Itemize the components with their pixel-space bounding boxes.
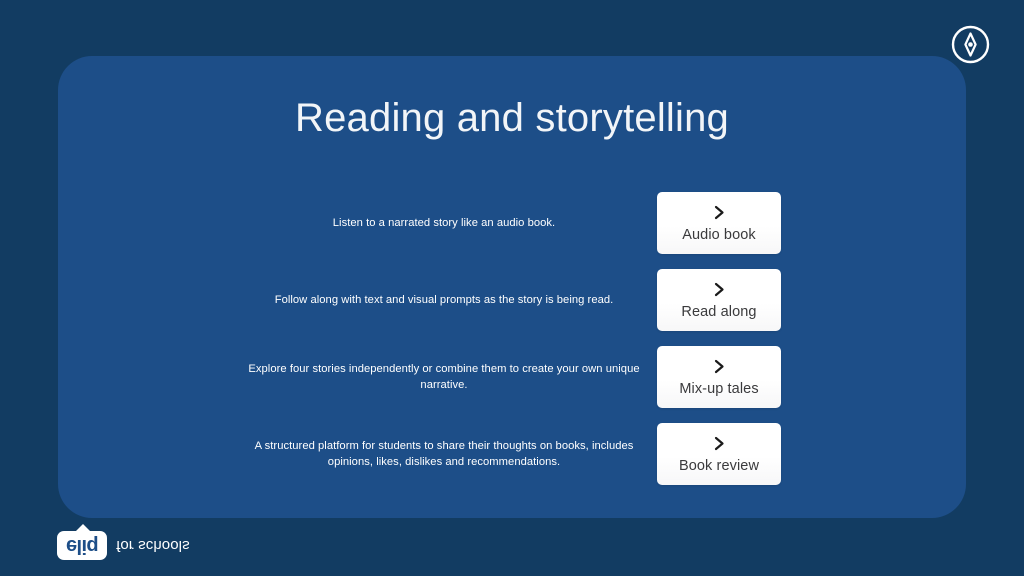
activity-button-read-along[interactable]: Read along [657, 269, 781, 331]
list-item: Explore four stories independently or co… [58, 346, 966, 408]
chevron-right-icon [712, 358, 727, 375]
activity-description: A structured platform for students to sh… [238, 438, 650, 470]
activity-button-label: Mix-up tales [679, 382, 758, 397]
slide-card: Reading and storytelling Listen to a nar… [58, 56, 966, 518]
page-title: Reading and storytelling [58, 96, 966, 140]
brand-logo: eliq for schools [57, 526, 190, 566]
activity-description: Follow along with text and visual prompt… [238, 292, 650, 308]
activity-button-book-review[interactable]: Book review [657, 423, 781, 485]
chevron-right-icon [712, 204, 727, 221]
list-item: A structured platform for students to sh… [58, 423, 966, 485]
activity-button-label: Book review [679, 459, 759, 474]
compass-icon [950, 24, 991, 65]
activity-button-label: Read along [681, 305, 756, 320]
activity-button-audio-book[interactable]: Audio book [657, 192, 781, 254]
list-item: Listen to a narrated story like an audio… [58, 192, 966, 254]
activity-list: Listen to a narrated story like an audio… [58, 192, 966, 500]
chevron-right-icon [712, 435, 727, 452]
list-item: Follow along with text and visual prompt… [58, 269, 966, 331]
compass-badge[interactable] [950, 24, 991, 65]
activity-button-mix-up-tales[interactable]: Mix-up tales [657, 346, 781, 408]
activity-button-label: Audio book [682, 228, 756, 243]
logo-bubble-icon: eliq [57, 532, 107, 561]
activity-description: Listen to a narrated story like an audio… [238, 215, 650, 231]
logo-tagline: for schools [116, 539, 190, 554]
chevron-right-icon [712, 281, 727, 298]
activity-description: Explore four stories independently or co… [238, 361, 650, 393]
logo-wordmark: eliq [66, 537, 98, 557]
